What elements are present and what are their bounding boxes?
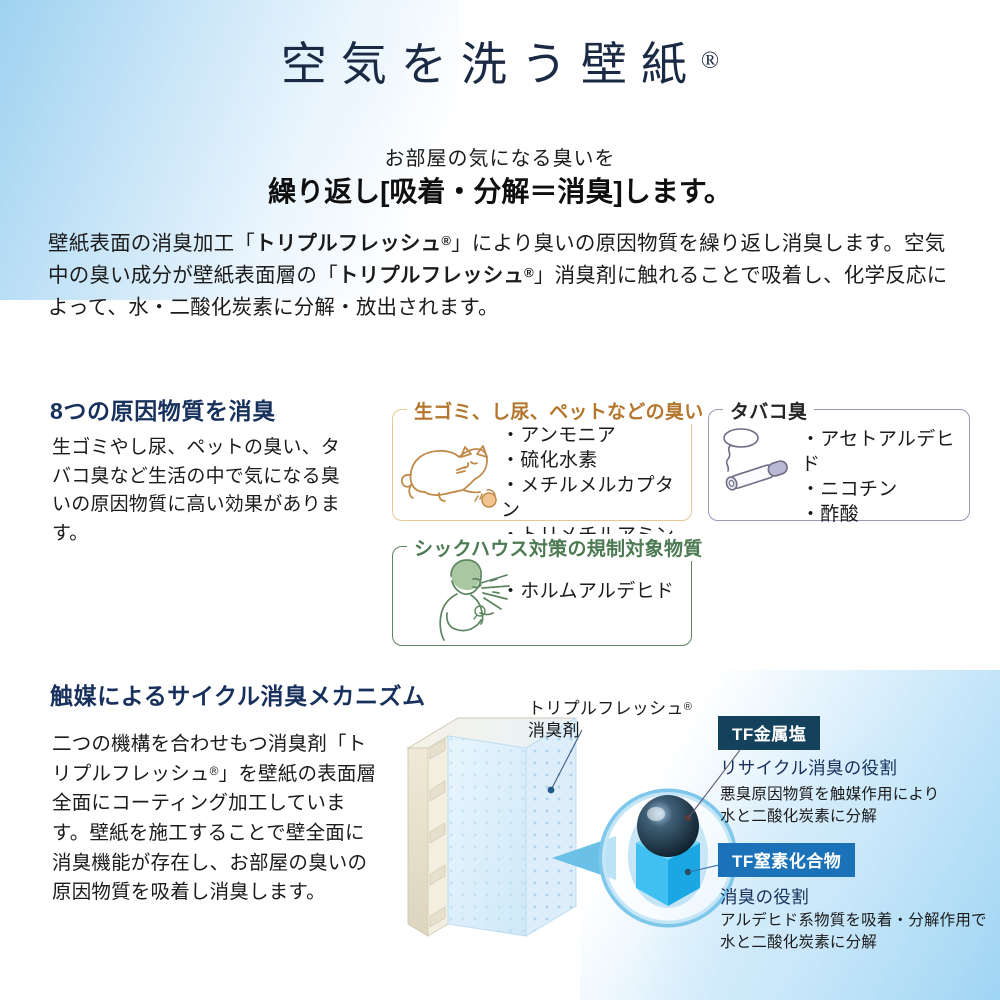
odor-box-tobacco-items: ・アセトアルデヒド ・ニコチン ・酢酸 <box>801 428 969 528</box>
section-odor-body: 生ゴミやし尿、ペットの臭い、タバコ臭など生活の中で気になる臭いの原因物質に高い効… <box>52 434 352 548</box>
callout-desc-tf-metal-salt: 悪臭原因物質を触媒作用により 水と二酸化炭素に分解 <box>720 784 940 829</box>
page-title-text: 空気を洗う壁紙 <box>281 39 701 90</box>
list-item: ・ホルムアルデヒド <box>501 580 674 605</box>
page-title: 空気を洗う壁紙® <box>0 42 1000 88</box>
callout-desc-tf-nitrogen-compound: アルデヒド系物質を吸着・分解作用で 水と二酸化炭素に分解 <box>720 910 987 955</box>
callout-role-tf-nitrogen-compound: 消臭の役割 <box>720 884 809 909</box>
page-root: 空気を洗う壁紙® お部屋の気になる臭いを 繰り返し[吸着・分解＝消臭]します。 … <box>0 0 1000 1000</box>
callout-role-tf-metal-salt: リサイクル消臭の役割 <box>720 755 897 780</box>
section-mechanism-body: 二つの機構を合わせもつ消臭剤「トリプルフレッシュ®」を壁紙の表面層全面にコーティ… <box>52 730 382 908</box>
section-mechanism-heading: 触媒によるサイクル消臭メカニズム <box>50 677 426 711</box>
callout-desc-line: アルデヒド系物質を吸着・分解作用で <box>720 910 987 932</box>
subtitle-line-1: お部屋の気になる臭いを <box>0 142 1000 171</box>
cigarette-icon <box>715 426 803 502</box>
registered-trademark-icon: ® <box>524 265 534 280</box>
registered-trademark-icon: ® <box>684 701 692 713</box>
list-item: ・メチルメルカプタン <box>501 474 691 524</box>
odor-box-waste: 生ゴミ、し尿、ペットなどの臭い <box>392 409 692 521</box>
list-item: ・ニコチン <box>801 478 969 503</box>
registered-trademark-icon: ® <box>210 764 219 778</box>
lead-brand-2: トリプルフレッシュ <box>338 264 524 287</box>
lead-brand-1: トリプルフレッシュ <box>255 232 441 255</box>
section-odor-heading: 8つの原因物質を消臭 <box>50 392 276 426</box>
odor-box-sickhouse-items: ・ホルムアルデヒド <box>501 580 674 605</box>
lead-paragraph: 壁紙表面の消臭加工「トリプルフレッシュ®」により臭いの原因物質を繰り返し消臭しま… <box>48 228 954 323</box>
odor-box-waste-items: ・アンモニア ・硫化水素 ・メチルメルカプタン ・トリメチルアミン <box>501 424 691 548</box>
callout-desc-line: 悪臭原因物質を触媒作用により <box>720 784 940 806</box>
lead-seg-1: 壁紙表面の消臭加工「 <box>48 232 255 255</box>
cat-icon <box>399 430 503 510</box>
status-badge-tf-nitrogen-compound: TF窒素化合物 <box>718 843 855 877</box>
registered-trademark-icon: ® <box>441 233 451 248</box>
subtitle-line-2: 繰り返し[吸着・分解＝消臭]します。 <box>0 170 1000 210</box>
callout-desc-line: 水と二酸化炭素に分解 <box>720 932 987 954</box>
wallpaper-label-line2: 消臭剤 <box>528 721 580 740</box>
odor-box-tobacco: タバコ臭 ・アセトアルデヒド ・ニコチン ・酢酸 <box>708 409 970 521</box>
status-badge-tf-metal-salt: TF金属塩 <box>718 716 820 750</box>
odor-box-tobacco-legend: タバコ臭 <box>723 397 814 424</box>
list-item: ・硫化水素 <box>501 449 691 474</box>
callout-desc-line: 水と二酸化炭素に分解 <box>720 806 940 828</box>
registered-trademark-icon: ® <box>701 48 719 74</box>
list-item: ・酢酸 <box>801 503 969 528</box>
odor-box-sickhouse: シックハウス対策の規制対象物質 <box>392 546 692 646</box>
odor-box-waste-legend: 生ゴミ、し尿、ペットなどの臭い <box>407 397 711 424</box>
list-item: ・アンモニア <box>501 424 691 449</box>
list-item: ・アセトアルデヒド <box>801 428 969 478</box>
wallpaper-deodorant-label: トリプルフレッシュ® 消臭剤 <box>528 698 692 742</box>
wallpaper-label-line1: トリプルフレッシュ <box>528 699 684 718</box>
mechanism-diagram: トリプルフレッシュ® 消臭剤 TF金属塩 リサイクル消臭の役割 悪臭原因物質を触… <box>400 688 1000 988</box>
